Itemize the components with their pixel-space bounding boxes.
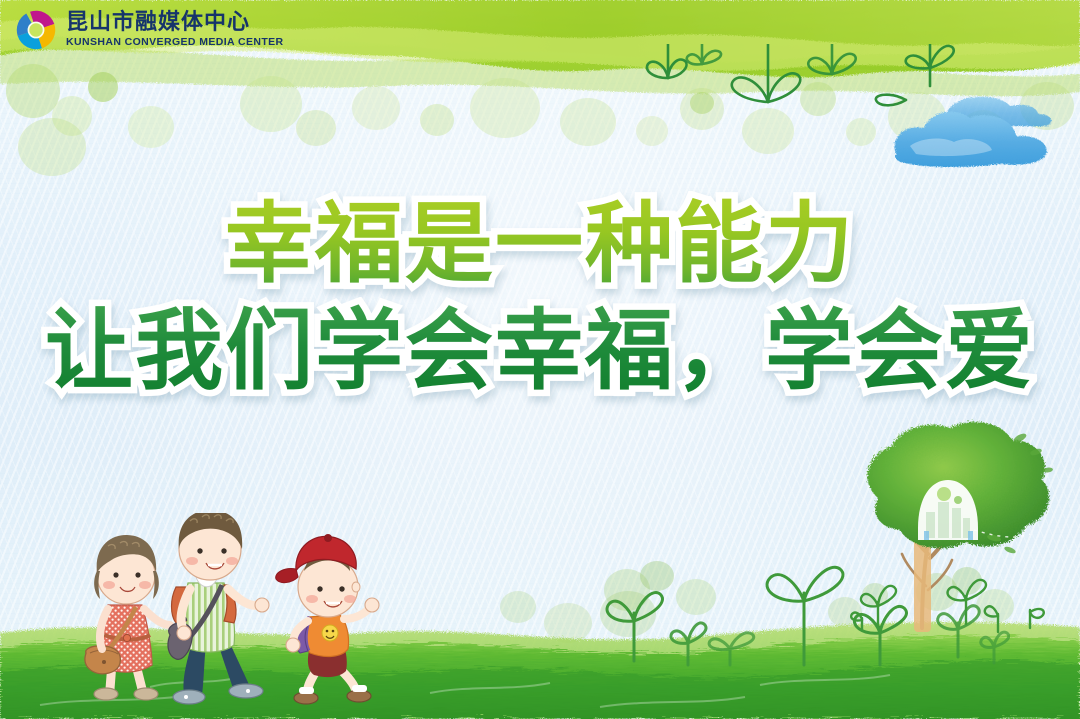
sprout-icon <box>687 44 721 64</box>
toddler-character <box>276 534 379 704</box>
tree-illustration <box>844 418 1074 658</box>
headline-line-1: 幸福是一种能力 幸福是一种能力 <box>0 196 1080 291</box>
logo-name-cn: 昆山市融媒体中心 <box>66 12 284 34</box>
sprout-icon <box>808 44 855 74</box>
headline-line-1-fill: 幸福是一种能力 <box>0 196 1080 291</box>
logo-name-en: KUNSHAN CONVERGED MEDIA CENTER <box>66 37 284 48</box>
tree-sign <box>914 536 931 632</box>
tree-base-sprouts <box>851 580 1044 632</box>
sprout-icon <box>709 633 754 665</box>
headline-line-2-fill: 让我们学会幸福，学会爱 <box>0 303 1080 398</box>
sprout-icon <box>647 44 687 78</box>
poster-canvas: 幸福是一种能力 幸福是一种能力 让我们学会幸福，学会爱 让我们学会幸福，学会爱 <box>0 0 1080 719</box>
boy-character <box>168 513 269 704</box>
girl-character <box>85 535 170 700</box>
logo-bar[interactable]: 昆山市融媒体中心 KUNSHAN CONVERGED MEDIA CENTER <box>14 8 284 52</box>
cloud-icon <box>850 92 1080 182</box>
sprout-icon <box>767 567 843 665</box>
kunshan-media-center-logo-icon[interactable] <box>14 8 58 52</box>
cap-brim <box>276 569 298 583</box>
logo-text-block: 昆山市融媒体中心 KUNSHAN CONVERGED MEDIA CENTER <box>66 12 284 48</box>
sprout-icon <box>732 44 800 102</box>
children-illustration <box>78 513 418 713</box>
headline-block: 幸福是一种能力 幸福是一种能力 让我们学会幸福，学会爱 让我们学会幸福，学会爱 <box>0 196 1080 398</box>
sprout-icon <box>671 623 706 665</box>
headline-line-2: 让我们学会幸福，学会爱 让我们学会幸福，学会爱 <box>0 303 1080 398</box>
sprout-icon <box>607 593 662 661</box>
